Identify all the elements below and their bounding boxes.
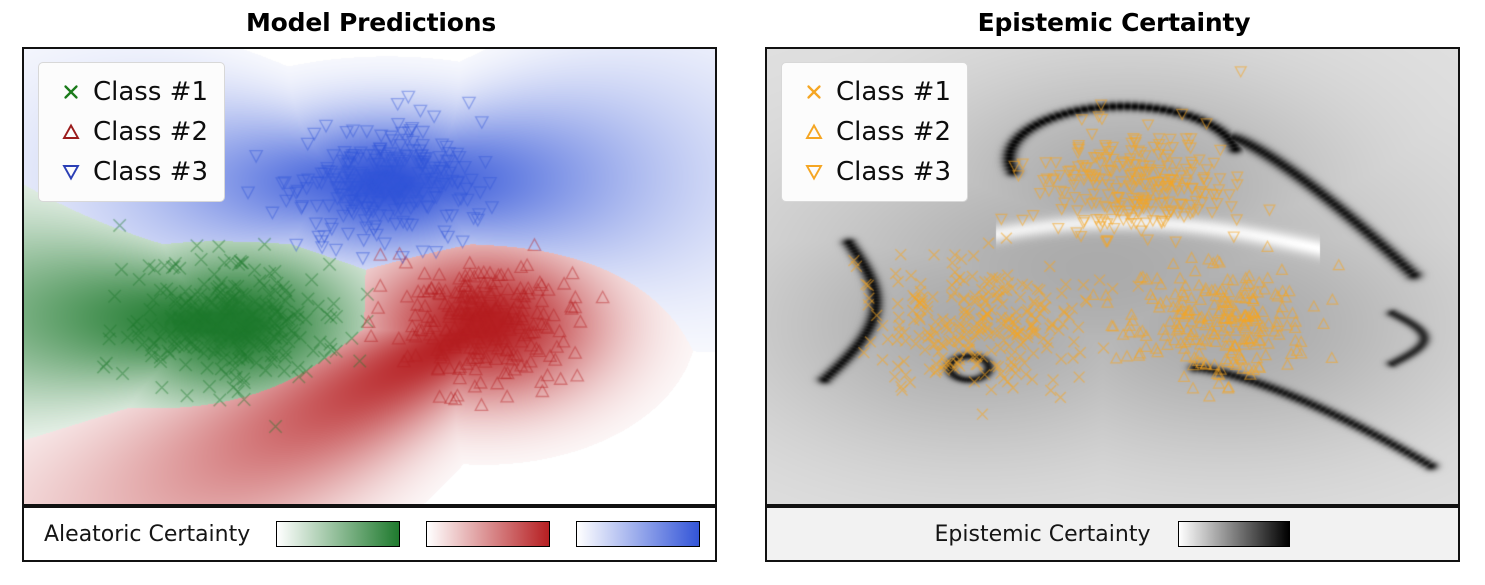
legend-item-class-2[interactable]: Class #2: [792, 112, 951, 152]
x-marker-icon: [49, 78, 93, 106]
colorbar-label-epistemic: Epistemic Certainty: [935, 522, 1151, 547]
triangle-up-marker-icon: [792, 118, 836, 146]
triangle-up-marker-icon: [49, 118, 93, 146]
legend-label-class-2: Class #2: [93, 117, 208, 147]
figure-root: Model Predictions Class #1: [0, 0, 1485, 585]
legend-label-class-2: Class #2: [836, 117, 951, 147]
colorbar-strip-row-aleatoric: [276, 521, 700, 547]
panel-model-predictions: Model Predictions Class #1: [0, 0, 742, 585]
legend-epistemic-certainty: Class #1 Class #2: [781, 62, 968, 202]
legend-item-class-2[interactable]: Class #2: [49, 112, 208, 152]
class-2-red-colorbar: [426, 521, 550, 547]
panel-title-epistemic-certainty: Epistemic Certainty: [743, 8, 1485, 37]
plot-area-model-predictions: Class #1 Class #2: [22, 47, 717, 506]
epistemic-gray-colorbar: [1178, 521, 1290, 547]
panel-title-model-predictions: Model Predictions: [0, 8, 742, 37]
colorbar-panel-epistemic: Epistemic Certainty: [765, 506, 1460, 562]
legend-item-class-3[interactable]: Class #3: [792, 152, 951, 192]
triangle-down-marker-icon: [792, 158, 836, 186]
legend-item-class-3[interactable]: Class #3: [49, 152, 208, 192]
legend-label-class-1: Class #1: [836, 77, 951, 107]
colorbar-strip-row-epistemic: [1178, 521, 1290, 547]
legend-label-class-3: Class #3: [93, 157, 208, 187]
plot-area-epistemic-certainty: Class #1 Class #2: [765, 47, 1460, 506]
class-3-blue-colorbar: [576, 521, 700, 547]
legend-label-class-3: Class #3: [836, 157, 951, 187]
legend-label-class-1: Class #1: [93, 77, 208, 107]
legend-item-class-1[interactable]: Class #1: [49, 72, 208, 112]
legend-model-predictions: Class #1 Class #2: [38, 62, 225, 202]
triangle-down-marker-icon: [49, 158, 93, 186]
x-marker-icon: [792, 78, 836, 106]
colorbar-label-aleatoric: Aleatoric Certainty: [44, 522, 250, 547]
colorbar-panel-aleatoric: Aleatoric Certainty: [22, 506, 717, 562]
panel-epistemic-certainty: Epistemic Certainty Class #1: [743, 0, 1485, 585]
class-1-green-colorbar: [276, 521, 400, 547]
legend-item-class-1[interactable]: Class #1: [792, 72, 951, 112]
